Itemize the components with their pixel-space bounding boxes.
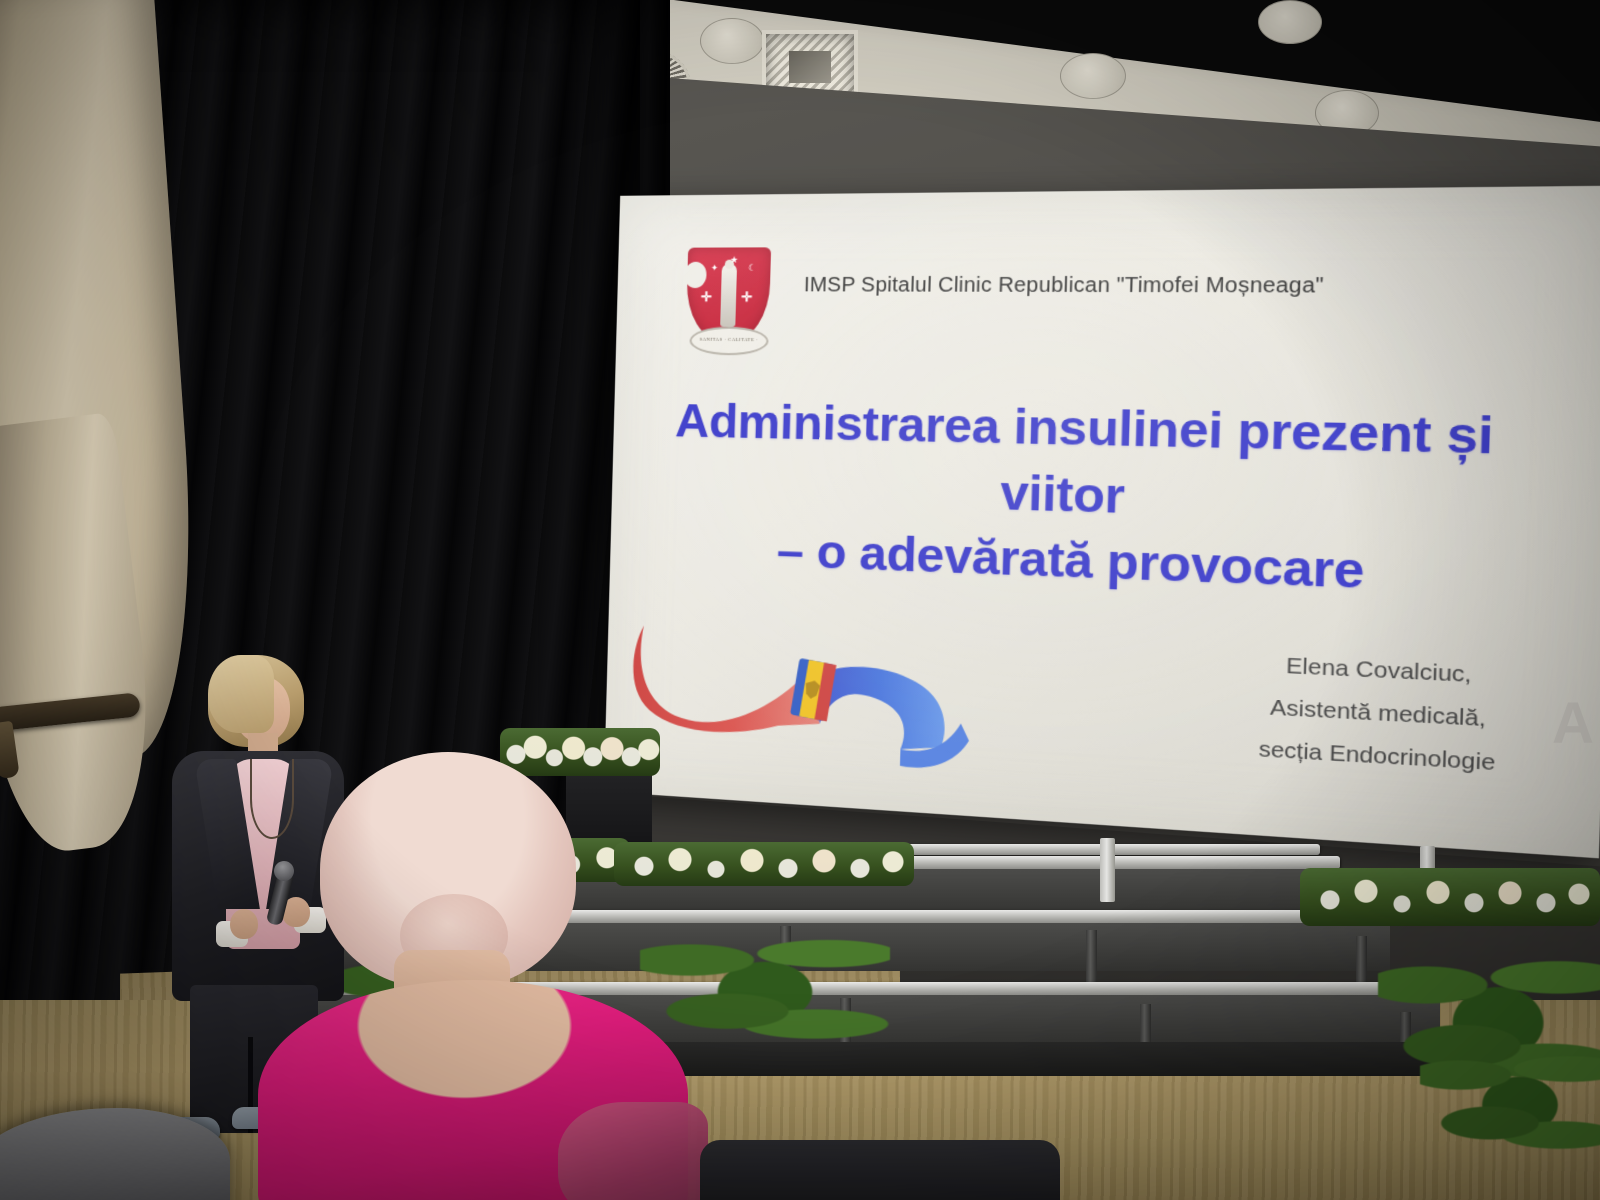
crest-cross-right-icon: ✛: [741, 290, 752, 303]
projection-screen: ✦ ★ ☾ ✛ ✛ SANITAS · CALITATE · RESPECT I…: [604, 186, 1600, 859]
crest-motto-banner: SANITAS · CALITATE · RESPECT: [689, 326, 769, 355]
slide-author-block: Elena Covalciuc, Asistentă medicală, sec…: [1201, 642, 1561, 788]
crest-star-icon: ✦: [711, 264, 719, 273]
slide-title-line-1: Administrarea insulinei prezent și viito…: [675, 393, 1495, 523]
speaker-hair-front: [208, 655, 274, 733]
speaker-hand-left: [230, 909, 258, 939]
audience-person: [258, 752, 688, 1200]
crest-cross-left-icon: ✛: [701, 290, 712, 303]
slide-content: ✦ ★ ☾ ✛ ✛ SANITAS · CALITATE · RESPECT I…: [604, 186, 1600, 859]
recessed-ceiling-light: [1060, 53, 1126, 99]
slide-organization-line: IMSP Spitalul Clinic Republican "Timofei…: [804, 274, 1325, 299]
riser-post: [1100, 838, 1115, 902]
flower-garland-right: [1300, 868, 1600, 926]
crest-star-icon: ★: [730, 256, 738, 265]
ribbon-red-segment: [632, 625, 822, 738]
presentation-photo: ✦ ★ ☾ ✛ ✛ SANITAS · CALITATE · RESPECT I…: [0, 0, 1600, 1200]
foreground-seat-row: [700, 1140, 1060, 1200]
audience-shawl: [558, 1102, 708, 1200]
recessed-ceiling-light: [1258, 0, 1322, 44]
fern-plant: [1420, 1030, 1600, 1180]
slide-title: Administrarea insulinei prezent și viito…: [610, 388, 1571, 613]
riser-leg: [1086, 930, 1097, 986]
recessed-ceiling-light: [700, 18, 764, 64]
foreground-chair-back: [0, 1108, 230, 1200]
crest-figure-icon: [720, 264, 737, 327]
edge-partial-letter: A: [1552, 690, 1594, 757]
crest-crescent-icon: ☾: [748, 264, 756, 273]
ribbon-blue-segment: [815, 665, 946, 752]
hospital-crest-icon: ✦ ★ ☾ ✛ ✛ SANITAS · CALITATE · RESPECT: [685, 247, 771, 353]
moldova-flag-panel: [790, 658, 837, 722]
slide-title-line-2: – o adevărată provocare: [610, 513, 1566, 613]
